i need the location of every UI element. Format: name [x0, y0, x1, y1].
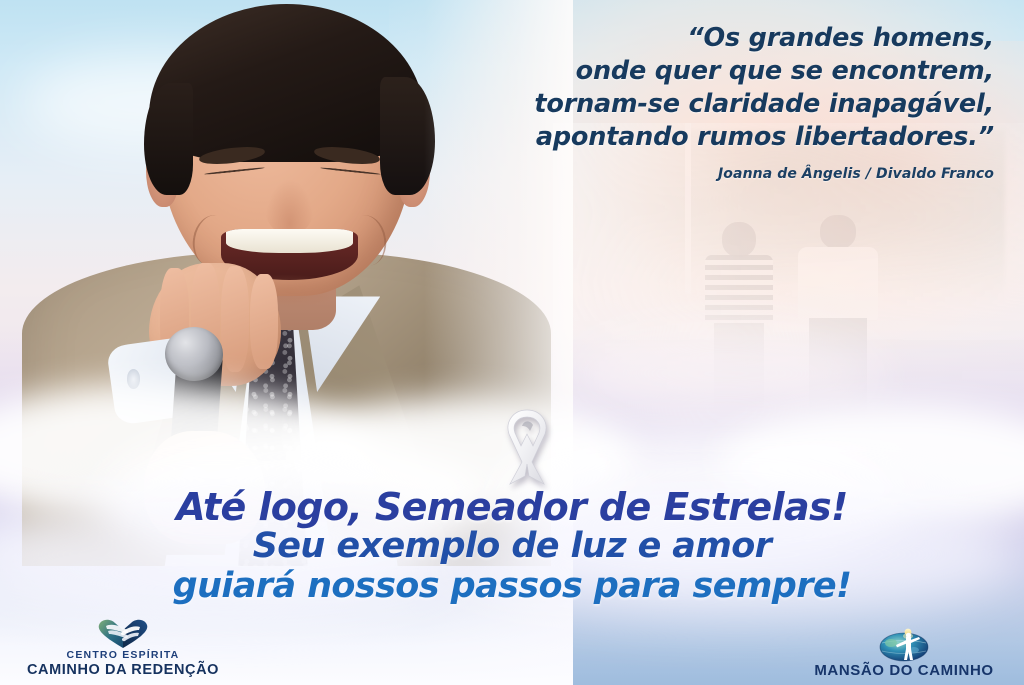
memorial-poster: “Os grandes homens, onde quer que se enc…: [0, 0, 1024, 685]
logo-centro-espirita: CENTRO ESPÍRITA CAMINHO DA REDENÇÃO: [18, 615, 228, 679]
portrait-hair-side-left: [144, 83, 194, 195]
heart-hands-icon: [96, 615, 150, 649]
quote-line-2: onde quer que se encontrem,: [334, 55, 994, 88]
quote-line-3: tornam-se claridade inapagável,: [334, 88, 994, 121]
headline-block: Até logo, Semeador de Estrelas! Seu exem…: [0, 487, 1024, 606]
logo-left-line-1: CENTRO ESPÍRITA: [67, 649, 180, 662]
headline-line-3: guiará nossos passos para sempre!: [0, 566, 1024, 606]
logo-left-line-2: CAMINHO DA REDENÇÃO: [27, 662, 219, 679]
mourning-ribbon-icon: [492, 404, 562, 490]
globe-figure-icon: [878, 628, 930, 662]
quote-line-1: “Os grandes homens,: [334, 22, 994, 55]
quote-attribution: Joanna de Ângelis / Divaldo Franco: [334, 166, 994, 182]
headline-line-1: Até logo, Semeador de Estrelas!: [0, 487, 1024, 527]
cloud: [573, 329, 880, 418]
portrait-nose: [265, 179, 315, 235]
headline-line-2: Seu exemplo de luz e amor: [0, 527, 1024, 566]
quote-block: “Os grandes homens, onde quer que se enc…: [334, 22, 994, 182]
quote-line-4: apontando rumos libertadores.”: [334, 121, 994, 154]
logo-mansao-do-caminho: MANSÃO DO CAMINHO: [796, 628, 1012, 679]
logo-right-line-1: MANSÃO DO CAMINHO: [814, 662, 993, 679]
